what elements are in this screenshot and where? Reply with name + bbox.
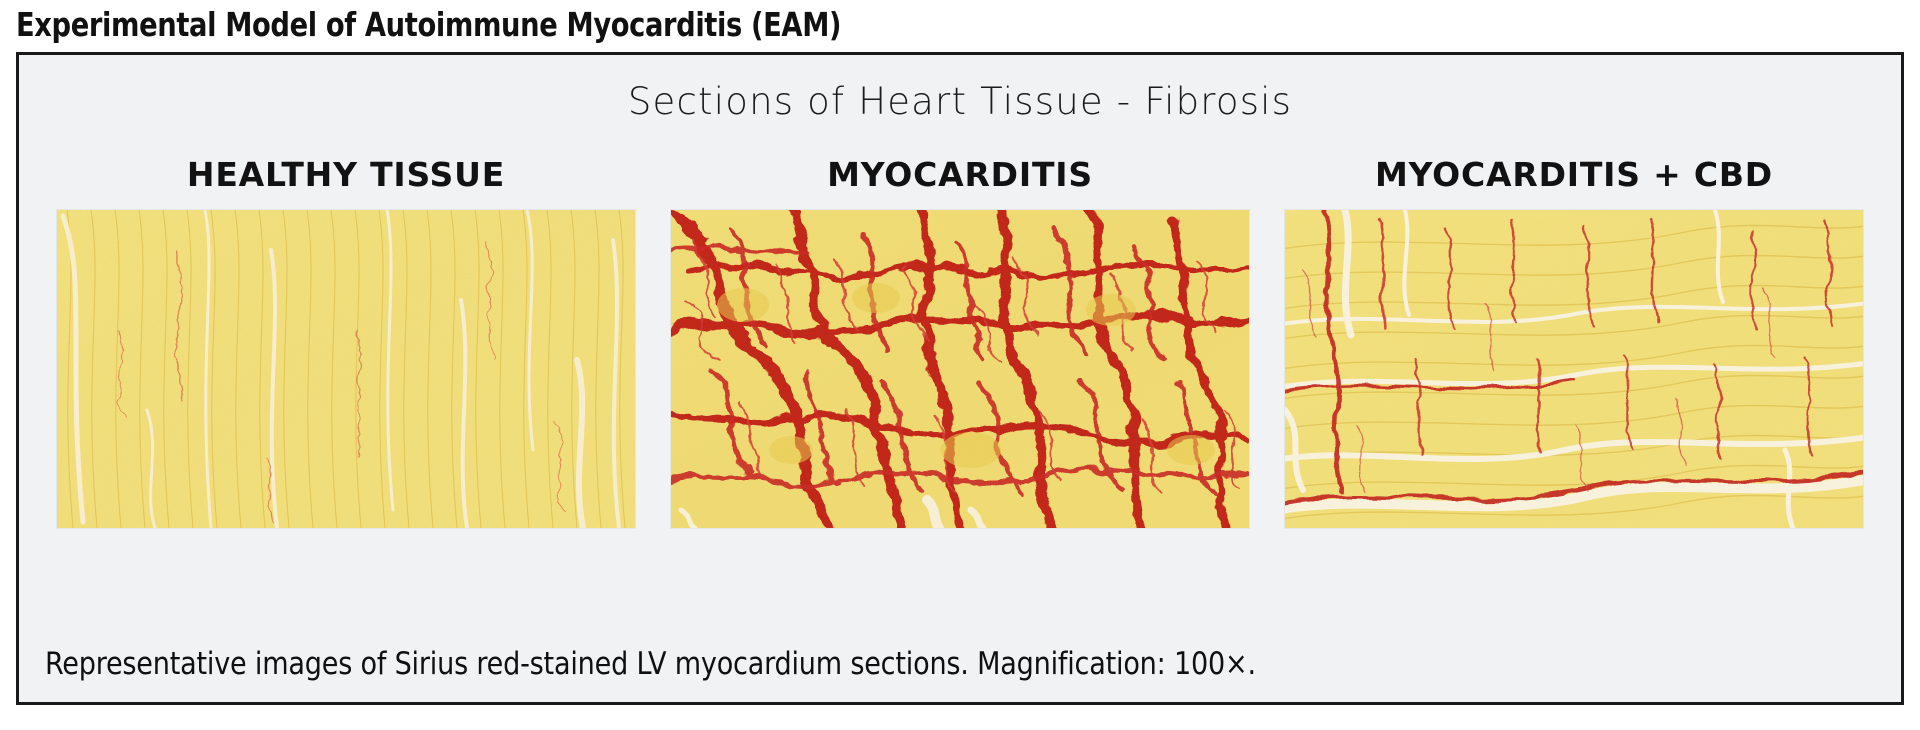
figure-caption: Representative images of Sirius red-stai…	[45, 646, 1256, 682]
panel-subtitle: Sections of Heart Tissue - Fibrosis	[19, 80, 1901, 123]
figure-title: Experimental Model of Autoimmune Myocard…	[16, 5, 841, 44]
figure-panel: Sections of Heart Tissue - Fibrosis HEAL…	[16, 52, 1904, 705]
micrograph-image-cbd	[1285, 210, 1863, 528]
panel-myocarditis-cbd: MYOCARDITIS + CBD	[1285, 155, 1863, 528]
panel-myocarditis: MYOCARDITIS	[671, 155, 1249, 528]
figure-root: Experimental Model of Autoimmune Myocard…	[0, 0, 1920, 730]
panel-healthy-tissue: HEALTHY TISSUE	[57, 155, 635, 528]
panel-label-myocarditis-cbd: MYOCARDITIS + CBD	[1375, 155, 1773, 194]
panel-label-healthy-tissue: HEALTHY TISSUE	[187, 155, 505, 194]
micrograph-image-myocarditis	[671, 210, 1249, 528]
micrograph-myocarditis	[671, 210, 1249, 528]
micrograph-image-healthy	[57, 210, 635, 528]
micrograph-healthy-tissue	[57, 210, 635, 528]
panel-label-myocarditis: MYOCARDITIS	[827, 155, 1093, 194]
micrograph-myocarditis-cbd	[1285, 210, 1863, 528]
micrograph-columns: HEALTHY TISSUE	[19, 155, 1901, 528]
